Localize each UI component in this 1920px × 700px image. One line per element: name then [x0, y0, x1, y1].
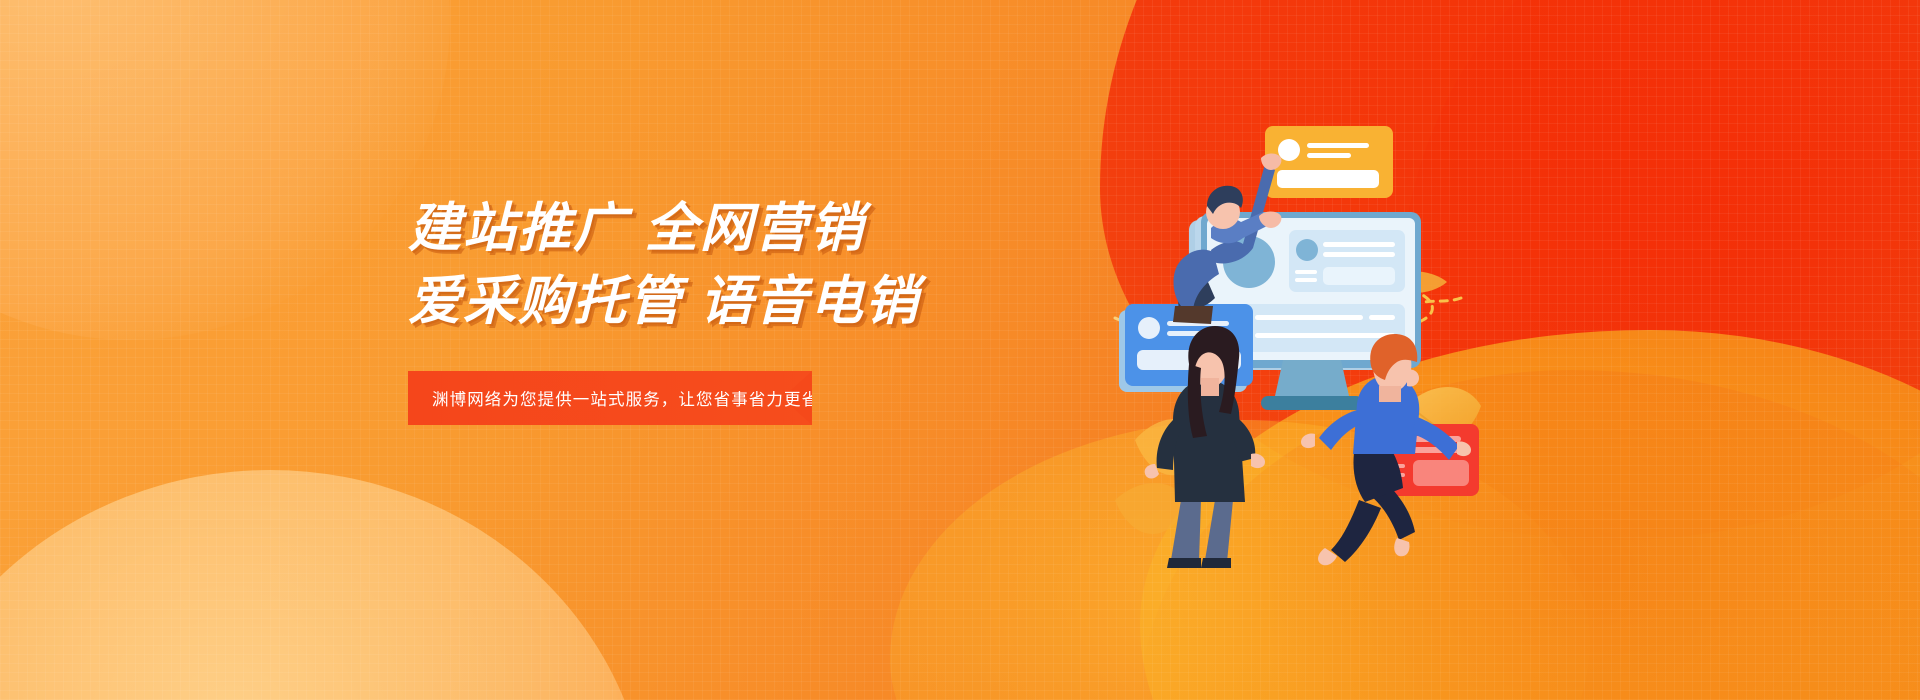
hero-illustration	[1115, 120, 1535, 600]
headline-line-1: 建站推广 全网营销	[408, 196, 968, 262]
tagline-ribbon: 渊博网络为您提供一站式服务，让您省事省力更省心	[408, 371, 812, 425]
headline-line-2: 爱采购托管 语音电销	[408, 269, 968, 335]
promo-banner: 建站推广 全网营销 爱采购托管 语音电销 渊博网络为您提供一站式服务，让您省事省…	[0, 0, 1920, 700]
top-left-circle-glow	[0, 0, 450, 340]
ribbon-text: 渊博网络为您提供一站式服务，让您省事省力更省心	[408, 386, 837, 410]
bottom-left-circle-glow	[0, 470, 650, 700]
banner-copy: 建站推广 全网营销 爱采购托管 语音电销 渊博网络为您提供一站式服务，让您省事省…	[408, 196, 968, 425]
floating-yellow-card	[1265, 126, 1393, 198]
